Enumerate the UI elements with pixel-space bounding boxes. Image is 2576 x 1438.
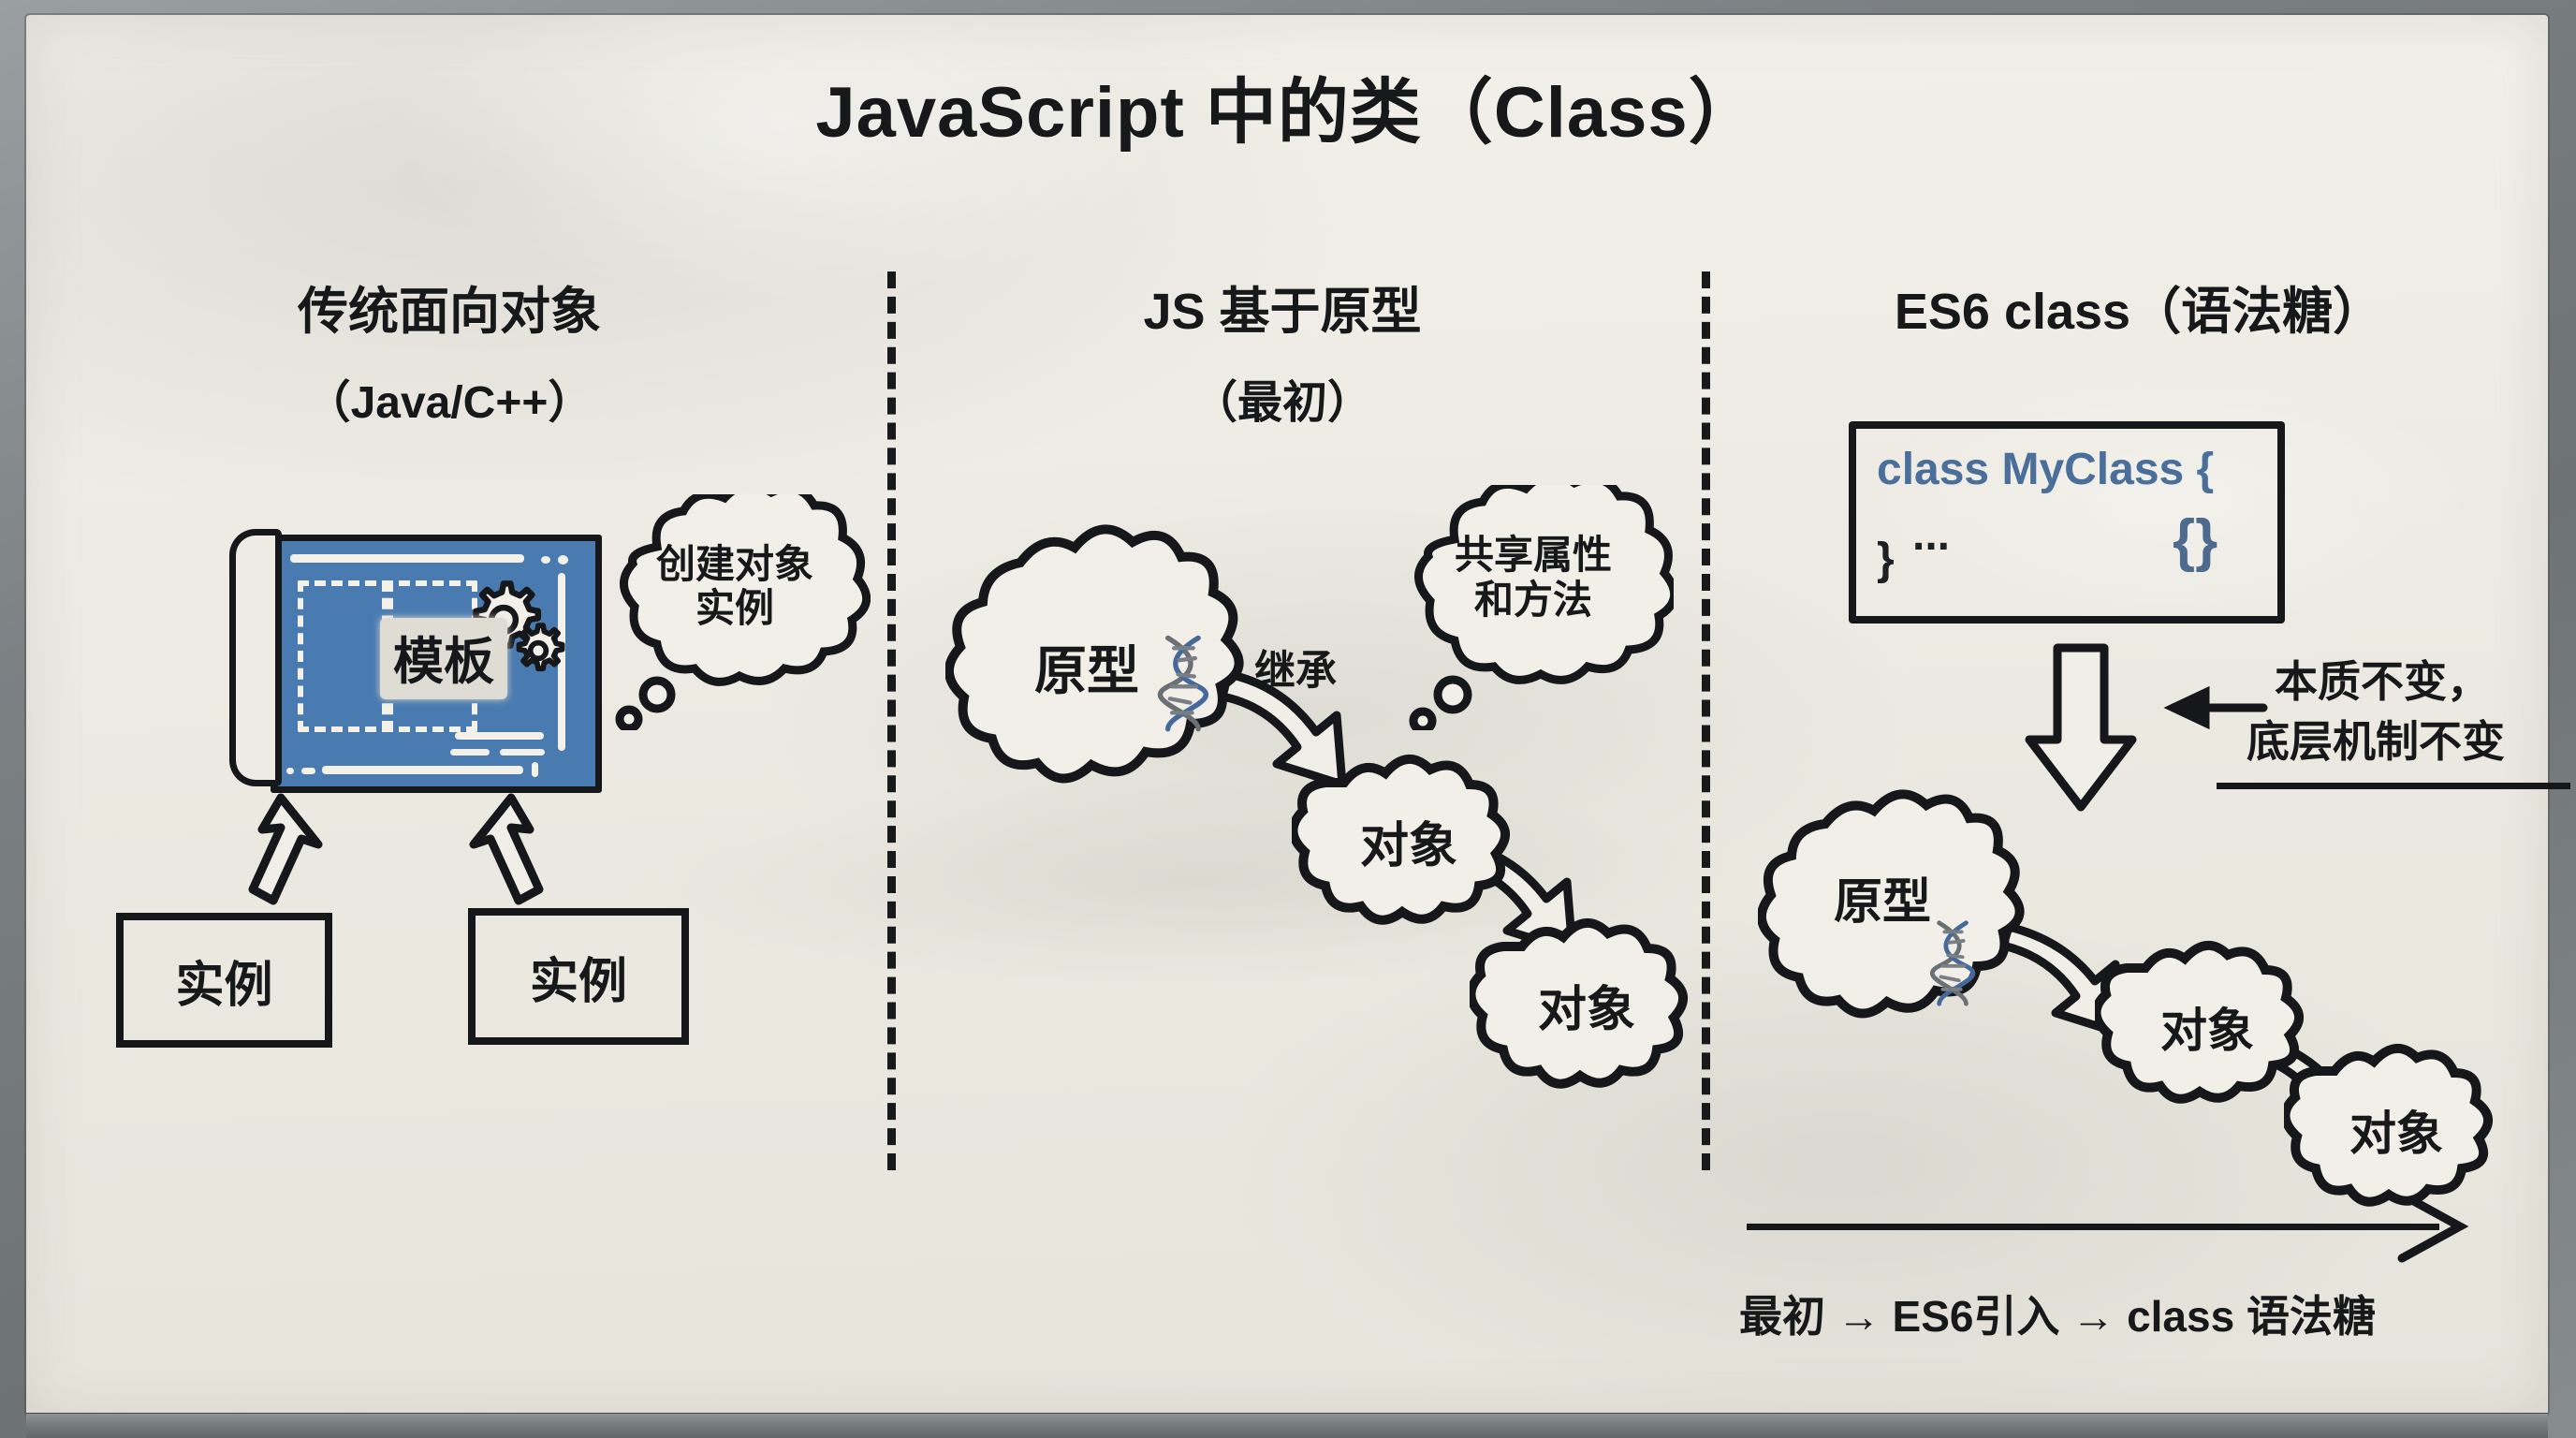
object-cloud-right-2-label: 对象 — [2349, 1108, 2443, 1160]
object-cloud-middle-2-label: 对象 — [1538, 983, 1635, 1037]
thought-bubble-shared-props: 共享属性和方法 — [1393, 485, 1674, 686]
prototype-cloud-middle-label: 原型 — [1034, 642, 1139, 701]
timeline-label: 最初 → ES6引入 → class 语法糖 — [1739, 1283, 2376, 1344]
timeline-arrowhead-wrap — [0, 0, 2576, 1438]
whiteboard-screenshot: JavaScript 中的类（Class） 传统面向对象 （Java/C++） — [0, 0, 2576, 1438]
dna-helix-icon-middle — [1153, 632, 1215, 733]
prototype-cloud-middle: 原型 — [945, 520, 1273, 829]
object-cloud-middle-1-label: 对象 — [1360, 819, 1457, 873]
dna-helix-icon-right — [1926, 917, 1981, 1007]
prototype-cloud-right: 原型 — [1758, 786, 2048, 1058]
prototype-cloud-right-label: 原型 — [1834, 875, 1931, 930]
object-cloud-middle-2: 对象 — [1470, 913, 1704, 1114]
thought-bubble-shared-props-text: 共享属性和方法 — [1444, 533, 1622, 621]
thought-bubble-create-instance-text: 创建对象实例 — [649, 542, 822, 630]
thought-bubble-create-instance: 创建对象实例 — [599, 494, 871, 691]
object-cloud-right-1-label: 对象 — [2160, 1005, 2254, 1057]
object-cloud-right-2: 对象 — [2284, 1039, 2509, 1231]
